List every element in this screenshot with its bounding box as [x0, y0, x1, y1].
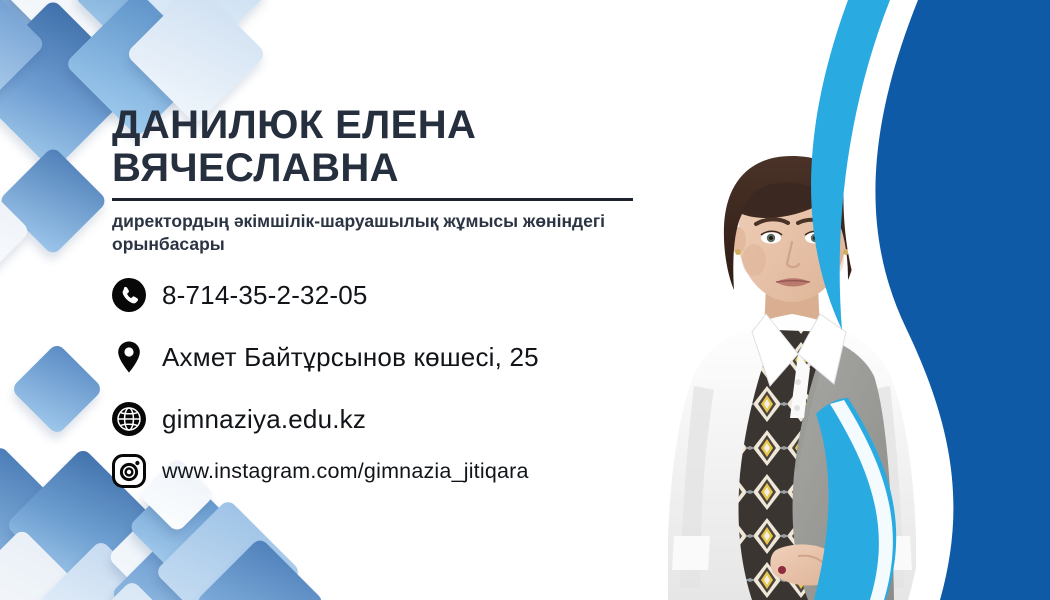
globe-icon [110, 400, 148, 438]
phone-icon [110, 276, 148, 314]
phone-number: 8-714-35-2-32-05 [162, 280, 368, 311]
diamond-shape [195, 537, 325, 600]
location-icon [110, 338, 148, 376]
contact-row-website[interactable]: gimnaziya.edu.kz [110, 400, 730, 438]
contact-list: 8-714-35-2-32-05 Ахмет Байтұрсынов көшес… [110, 276, 730, 508]
instagram-url: www.instagram.com/gimnazia_jitiqara [162, 459, 529, 484]
diamond-shape [0, 187, 31, 275]
contact-row-address[interactable]: Ахмет Байтұрсынов көшесі, 25 [110, 338, 730, 376]
diamond-shape [37, 539, 164, 600]
contact-row-instagram[interactable]: www.instagram.com/gimnazia_jitiqara [110, 452, 730, 490]
diamond-shape [73, 0, 203, 61]
contact-row-phone[interactable]: 8-714-35-2-32-05 [110, 276, 730, 314]
diamond-shape [10, 342, 103, 435]
diamond-shape [110, 526, 246, 600]
business-card: ДАНИЛЮК ЕЛЕНА ВЯЧЕСЛАВНА директордың әкі… [0, 0, 1050, 600]
diamond-shape [139, 0, 269, 57]
address-text: Ахмет Байтұрсынов көшесі, 25 [162, 342, 539, 373]
diamond-shape [154, 498, 301, 600]
diamond-shape [0, 146, 108, 256]
instagram-icon [110, 452, 148, 490]
diamond-shape [0, 0, 67, 65]
diamond-shape [0, 0, 46, 112]
identity-block: ДАНИЛЮК ЕЛЕНА ВЯЧЕСЛАВНА директордың әкі… [112, 104, 692, 256]
diamond-shape [0, 528, 90, 600]
diamond-shape [5, 0, 135, 59]
wave-dark-blue [867, 0, 1050, 600]
diamond-shape [75, 579, 188, 600]
wave-decoration [790, 0, 1050, 600]
title-divider [112, 198, 633, 201]
diamond-shape [107, 499, 223, 600]
job-title: директордың әкімшілік-шаруашылық жұмысы … [112, 210, 687, 257]
diamond-shape [0, 444, 74, 591]
website-url: gimnaziya.edu.kz [162, 404, 366, 435]
page-title: ДАНИЛЮК ЕЛЕНА ВЯЧЕСЛАВНА [112, 104, 692, 190]
